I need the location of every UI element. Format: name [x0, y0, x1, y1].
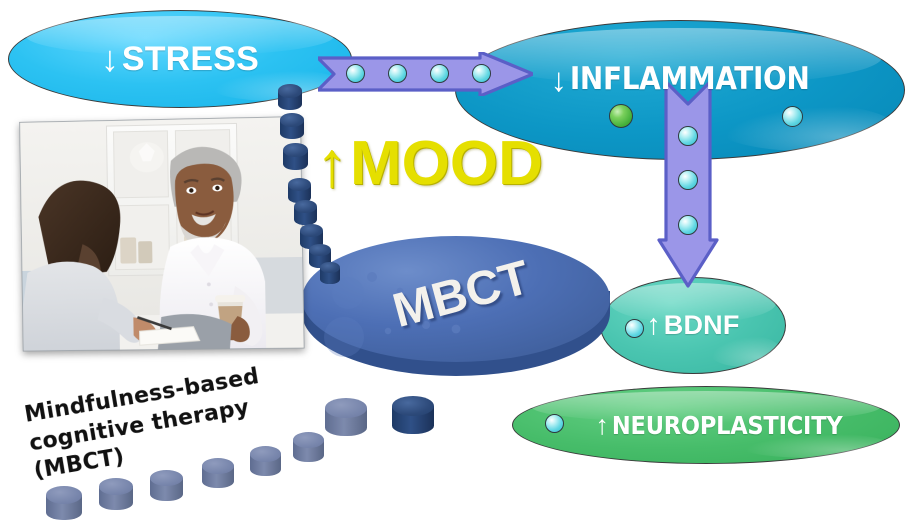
node-inflammation-label: INFLAMMATION: [570, 61, 810, 97]
up-arrow-icon: ↑: [646, 311, 661, 340]
arrow-inflammation-to-bdnf: [655, 78, 721, 290]
dot-marker: [202, 458, 234, 488]
node-neuroplasticity-label: NEUROPLASTICITY: [612, 411, 843, 440]
node-bdnf-label: BDNF: [664, 310, 740, 341]
bubble-icon: [782, 106, 803, 127]
mood-label: MOOD: [350, 133, 543, 195]
node-mbct[interactable]: MBCT: [300, 233, 612, 379]
up-arrow-icon: ↑: [596, 412, 610, 439]
dot-marker: [46, 486, 82, 520]
dot-marker: [99, 478, 133, 510]
bubble-icon: [430, 64, 449, 83]
bubble-icon: [625, 319, 644, 338]
photo-illustration: [19, 116, 304, 351]
bubble-icon: [678, 126, 698, 146]
dot-marker: [320, 262, 340, 284]
dot-marker: [293, 432, 324, 462]
dot-marker: [250, 446, 281, 476]
bubble-green-icon: [609, 104, 633, 128]
arrow-stress-to-inflammation: [318, 52, 533, 96]
bubble-icon: [388, 64, 407, 83]
node-neuroplasticity[interactable]: ↑ NEUROPLASTICITY: [512, 386, 900, 464]
bubble-icon: [346, 64, 365, 83]
dot-marker: [278, 84, 302, 110]
therapy-session-photo: [19, 116, 304, 351]
dot-marker: [283, 143, 308, 170]
dot-marker: [294, 200, 317, 225]
dot-marker: [150, 470, 183, 501]
up-arrow-icon: ↑: [316, 132, 348, 196]
dot-marker: [392, 396, 434, 434]
down-arrow-icon: ↓: [101, 41, 119, 77]
dot-marker: [325, 398, 367, 436]
down-arrow-icon: ↓: [550, 63, 567, 96]
infographic-canvas: ↓ STRESS ↓ INFLAMMATION: [0, 0, 918, 529]
dot-marker: [280, 113, 304, 139]
mood-callout: ↑ MOOD: [316, 132, 543, 196]
bubble-icon: [678, 215, 698, 235]
bubble-icon: [678, 170, 698, 190]
bubble-icon: [545, 414, 564, 433]
node-stress-label: STRESS: [122, 40, 259, 79]
bubble-icon: [472, 64, 491, 83]
